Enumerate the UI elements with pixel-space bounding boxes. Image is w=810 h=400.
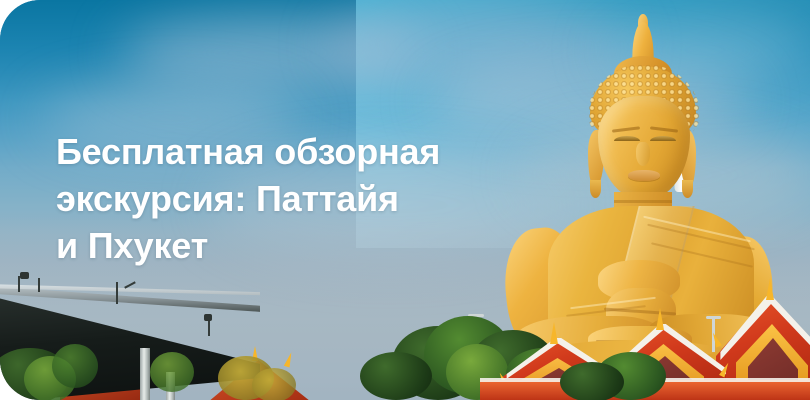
buddha-mouth	[628, 170, 660, 181]
roof-fixture	[20, 272, 29, 279]
roof-antenna	[38, 278, 40, 292]
page-title: Бесплатная обзорная экскурсия: Паттайя и…	[56, 128, 486, 269]
support-post	[140, 348, 150, 400]
roof-fixture	[204, 314, 212, 321]
neck-crease	[614, 200, 672, 203]
roof-antenna	[116, 282, 118, 304]
tree	[252, 368, 296, 400]
tree	[52, 344, 98, 388]
buddha-eye	[650, 136, 676, 141]
chofa-finial	[656, 308, 664, 330]
buddha-earlobe	[682, 180, 693, 198]
promo-banner[interactable]: Бесплатная обзорная экскурсия: Паттайя и…	[0, 0, 810, 400]
buddha-eye	[614, 136, 640, 141]
tree	[560, 362, 624, 400]
buddha-earlobe	[590, 180, 601, 198]
chofa-finial	[550, 322, 558, 344]
chofa-finial	[766, 278, 774, 300]
tree	[150, 352, 194, 392]
tree	[360, 352, 432, 400]
buddha-nose	[636, 142, 650, 166]
chofa-finial	[710, 331, 722, 347]
